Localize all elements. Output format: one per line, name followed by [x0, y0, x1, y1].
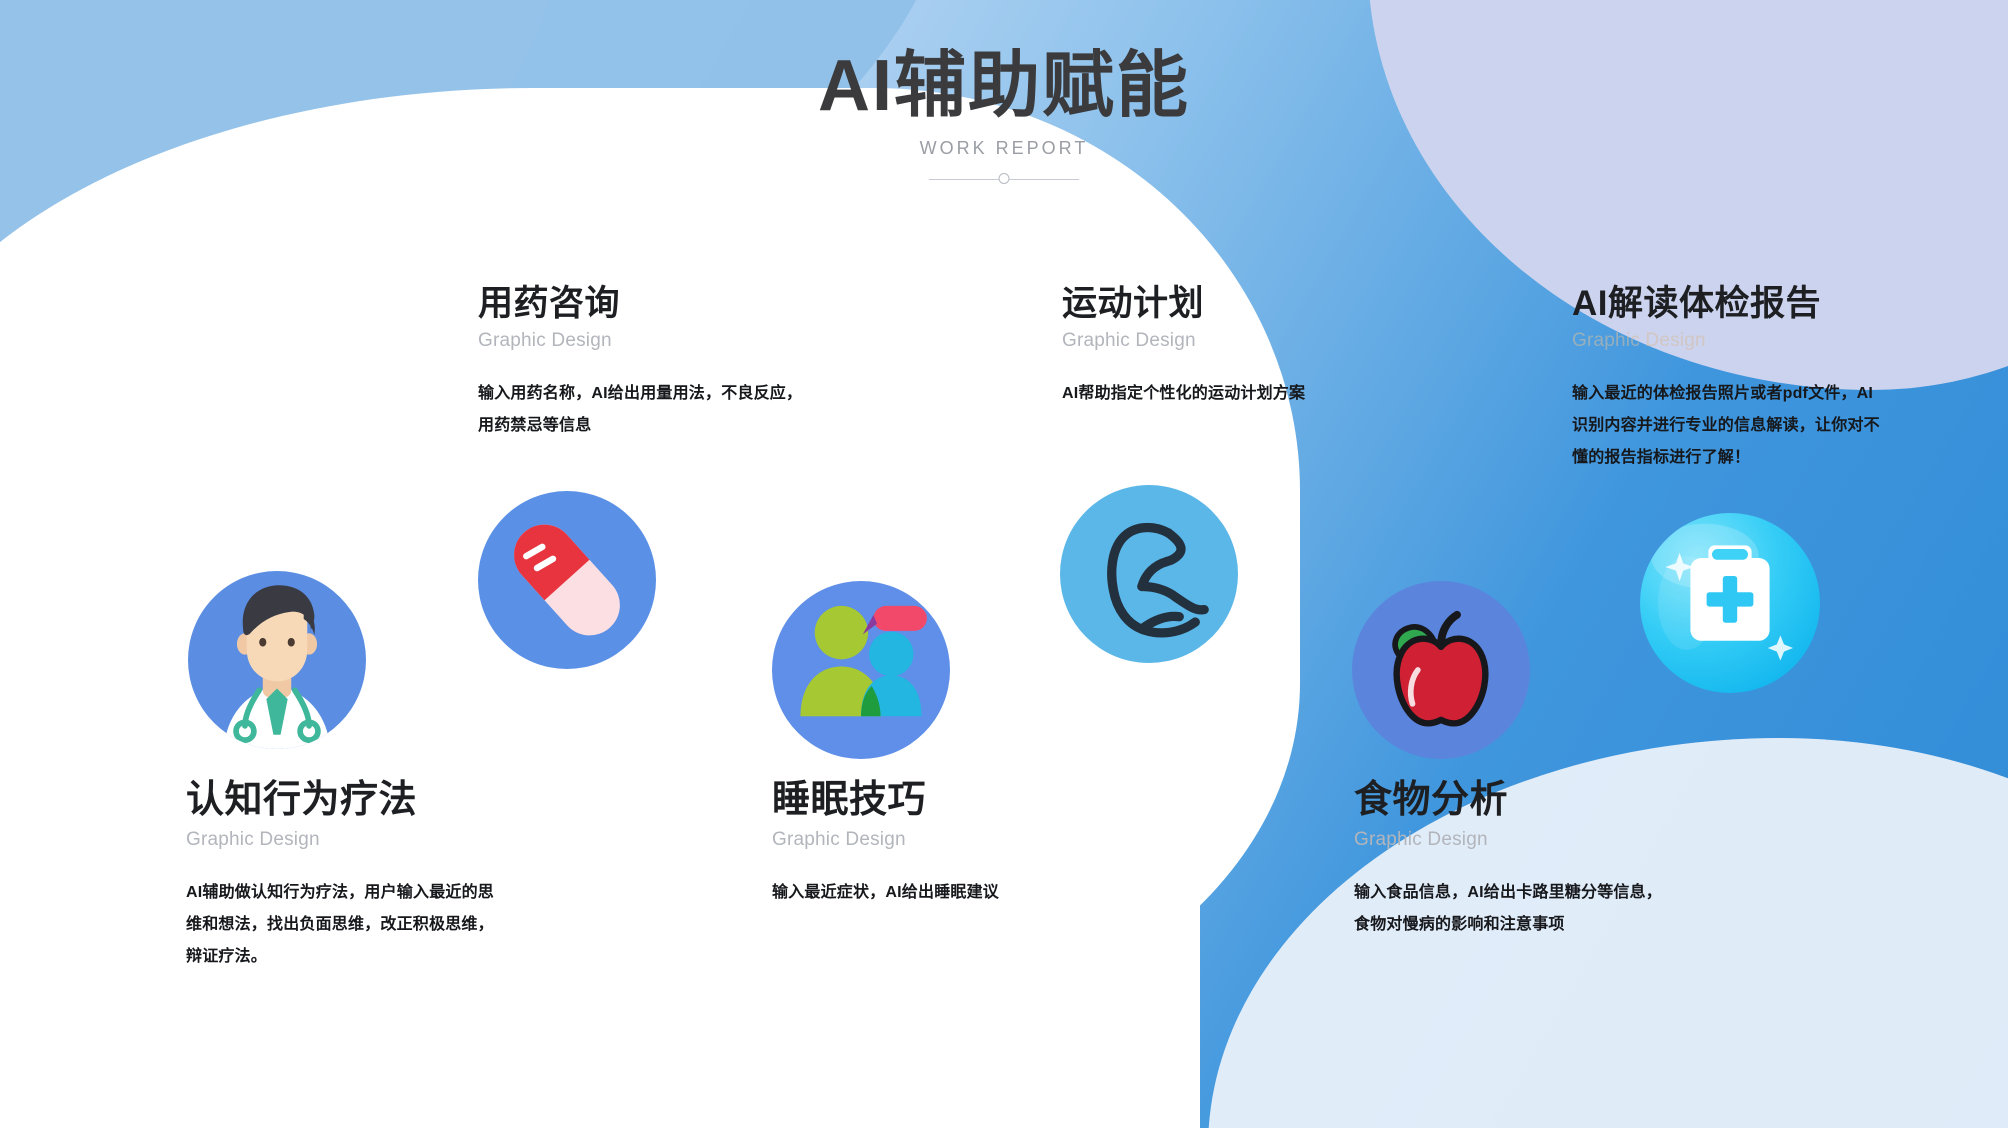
page-subtitle: WORK REPORT: [0, 138, 2008, 159]
feature-title-cbt: 认知行为疗法: [186, 778, 526, 823]
feature-description-sleep: 输入最近症状，AI给出睡眠建议: [772, 877, 1102, 909]
feature-caption-report: Graphic Design: [1572, 330, 1902, 352]
slide-canvas: AI辅助赋能 WORK REPORT 用药咨询 Graphic Design 输…: [0, 0, 2008, 1128]
page-title: AI辅助赋能: [0, 48, 2008, 126]
feature-description-medicine: 输入用药名称，AI给出用量用法，不良反应， 用药禁忌等信息: [478, 378, 838, 442]
feature-block-medicine: 用药咨询 Graphic Design 输入用药名称，AI给出用量用法，不良反应…: [478, 283, 838, 442]
feature-title-sleep: 睡眠技巧: [772, 778, 1102, 823]
feature-caption-food: Graphic Design: [1354, 829, 1694, 851]
feature-description-cbt: AI辅助做认知行为疗法，用户输入最近的思 维和想法，找出负面思维，改正积极思维，…: [186, 877, 526, 973]
medical-clipboard-icon: [1640, 513, 1820, 693]
feature-description-report: 输入最近的体检报告照片或者pdf文件，AI 识别内容并进行专业的信息解读，让你对…: [1572, 378, 1902, 474]
feature-block-report: AI解读体检报告 Graphic Design 输入最近的体检报告照片或者pdf…: [1572, 283, 1902, 474]
feature-title-food: 食物分析: [1354, 778, 1694, 823]
flexed-bicep-icon: [1060, 485, 1238, 663]
feature-description-food: 输入食品信息，AI给出卡路里糖分等信息， 食物对慢病的影响和注意事项: [1354, 877, 1694, 941]
feature-block-sleep: 睡眠技巧 Graphic Design 输入最近症状，AI给出睡眠建议: [772, 778, 1102, 909]
two-people-chat-icon: [772, 581, 950, 759]
apple-icon: [1352, 581, 1530, 759]
feature-caption-medicine: Graphic Design: [478, 330, 838, 352]
feature-caption-sleep: Graphic Design: [772, 829, 1102, 851]
doctor-avatar-icon: [188, 571, 366, 749]
feature-title-report: AI解读体检报告: [1572, 283, 1902, 324]
divider-dot: [999, 173, 1010, 184]
feature-caption-exercise: Graphic Design: [1062, 330, 1392, 352]
feature-block-exercise: 运动计划 Graphic Design AI帮助指定个性化的运动计划方案: [1062, 283, 1392, 410]
pill-icon: [478, 491, 656, 669]
feature-title-medicine: 用药咨询: [478, 283, 838, 324]
feature-description-exercise: AI帮助指定个性化的运动计划方案: [1062, 378, 1392, 410]
feature-block-food: 食物分析 Graphic Design 输入食品信息，AI给出卡路里糖分等信息，…: [1354, 778, 1694, 941]
feature-block-cbt: 认知行为疗法 Graphic Design AI辅助做认知行为疗法，用户输入最近…: [186, 778, 526, 973]
slide-header: AI辅助赋能 WORK REPORT: [0, 48, 2008, 187]
feature-title-exercise: 运动计划: [1062, 283, 1392, 324]
feature-caption-cbt: Graphic Design: [186, 829, 526, 851]
header-divider: [929, 173, 1079, 187]
